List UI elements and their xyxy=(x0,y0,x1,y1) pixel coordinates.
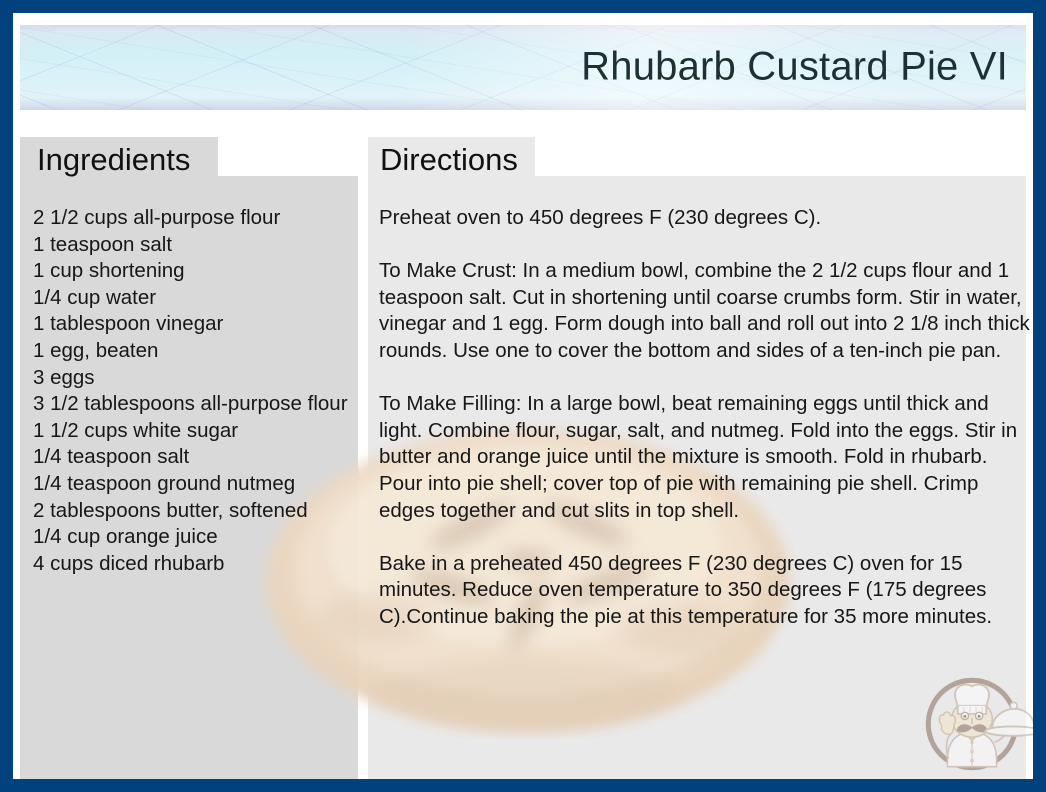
ingredient-item: 2 1/2 cups all-purpose flour xyxy=(33,205,353,232)
directions-heading: Directions xyxy=(380,144,518,175)
ingredient-item: 1 egg, beaten xyxy=(33,338,353,365)
ingredient-item: 1 tablespoon vinegar xyxy=(33,311,353,338)
ingredient-item: 1/4 cup orange juice xyxy=(33,524,353,551)
ingredient-item: 3 1/2 tablespoons all-purpose flour xyxy=(33,391,353,418)
ingredients-heading-tab: Ingredients xyxy=(20,137,218,182)
ingredients-heading: Ingredients xyxy=(37,144,190,175)
page-title: Rhubarb Custard Pie VI xyxy=(581,44,1008,89)
recipe-card: Rhubarb Custard Pie VI xyxy=(0,0,1046,792)
ingredient-item: 4 cups diced rhubarb xyxy=(33,551,353,578)
directions-list: Preheat oven to 450 degrees F (230 degre… xyxy=(379,205,1031,631)
direction-step: To Make Filling: In a large bowl, beat r… xyxy=(379,391,1031,524)
ingredient-item: 1 teaspoon salt xyxy=(33,232,353,259)
ingredient-item: 1/4 teaspoon ground nutmeg xyxy=(33,471,353,498)
ingredient-item: 1 1/2 cups white sugar xyxy=(33,418,353,445)
direction-step: Bake in a preheated 450 degrees F (230 d… xyxy=(379,551,1031,631)
ingredients-list: 2 1/2 cups all-purpose flour1 teaspoon s… xyxy=(33,205,353,577)
recipe-page: Rhubarb Custard Pie VI xyxy=(13,13,1033,779)
header-banner: Rhubarb Custard Pie VI xyxy=(20,25,1026,110)
ingredient-item: 2 tablespoons butter, softened xyxy=(33,498,353,525)
ingredient-item: 1/4 teaspoon salt xyxy=(33,444,353,471)
ingredient-item: 1 cup shortening xyxy=(33,258,353,285)
direction-step: To Make Crust: In a medium bowl, combine… xyxy=(379,258,1031,364)
ingredient-item: 3 eggs xyxy=(33,365,353,392)
ingredient-item: 1/4 cup water xyxy=(33,285,353,312)
directions-heading-tab: Directions xyxy=(368,137,535,182)
direction-step: Preheat oven to 450 degrees F (230 degre… xyxy=(379,205,1031,232)
